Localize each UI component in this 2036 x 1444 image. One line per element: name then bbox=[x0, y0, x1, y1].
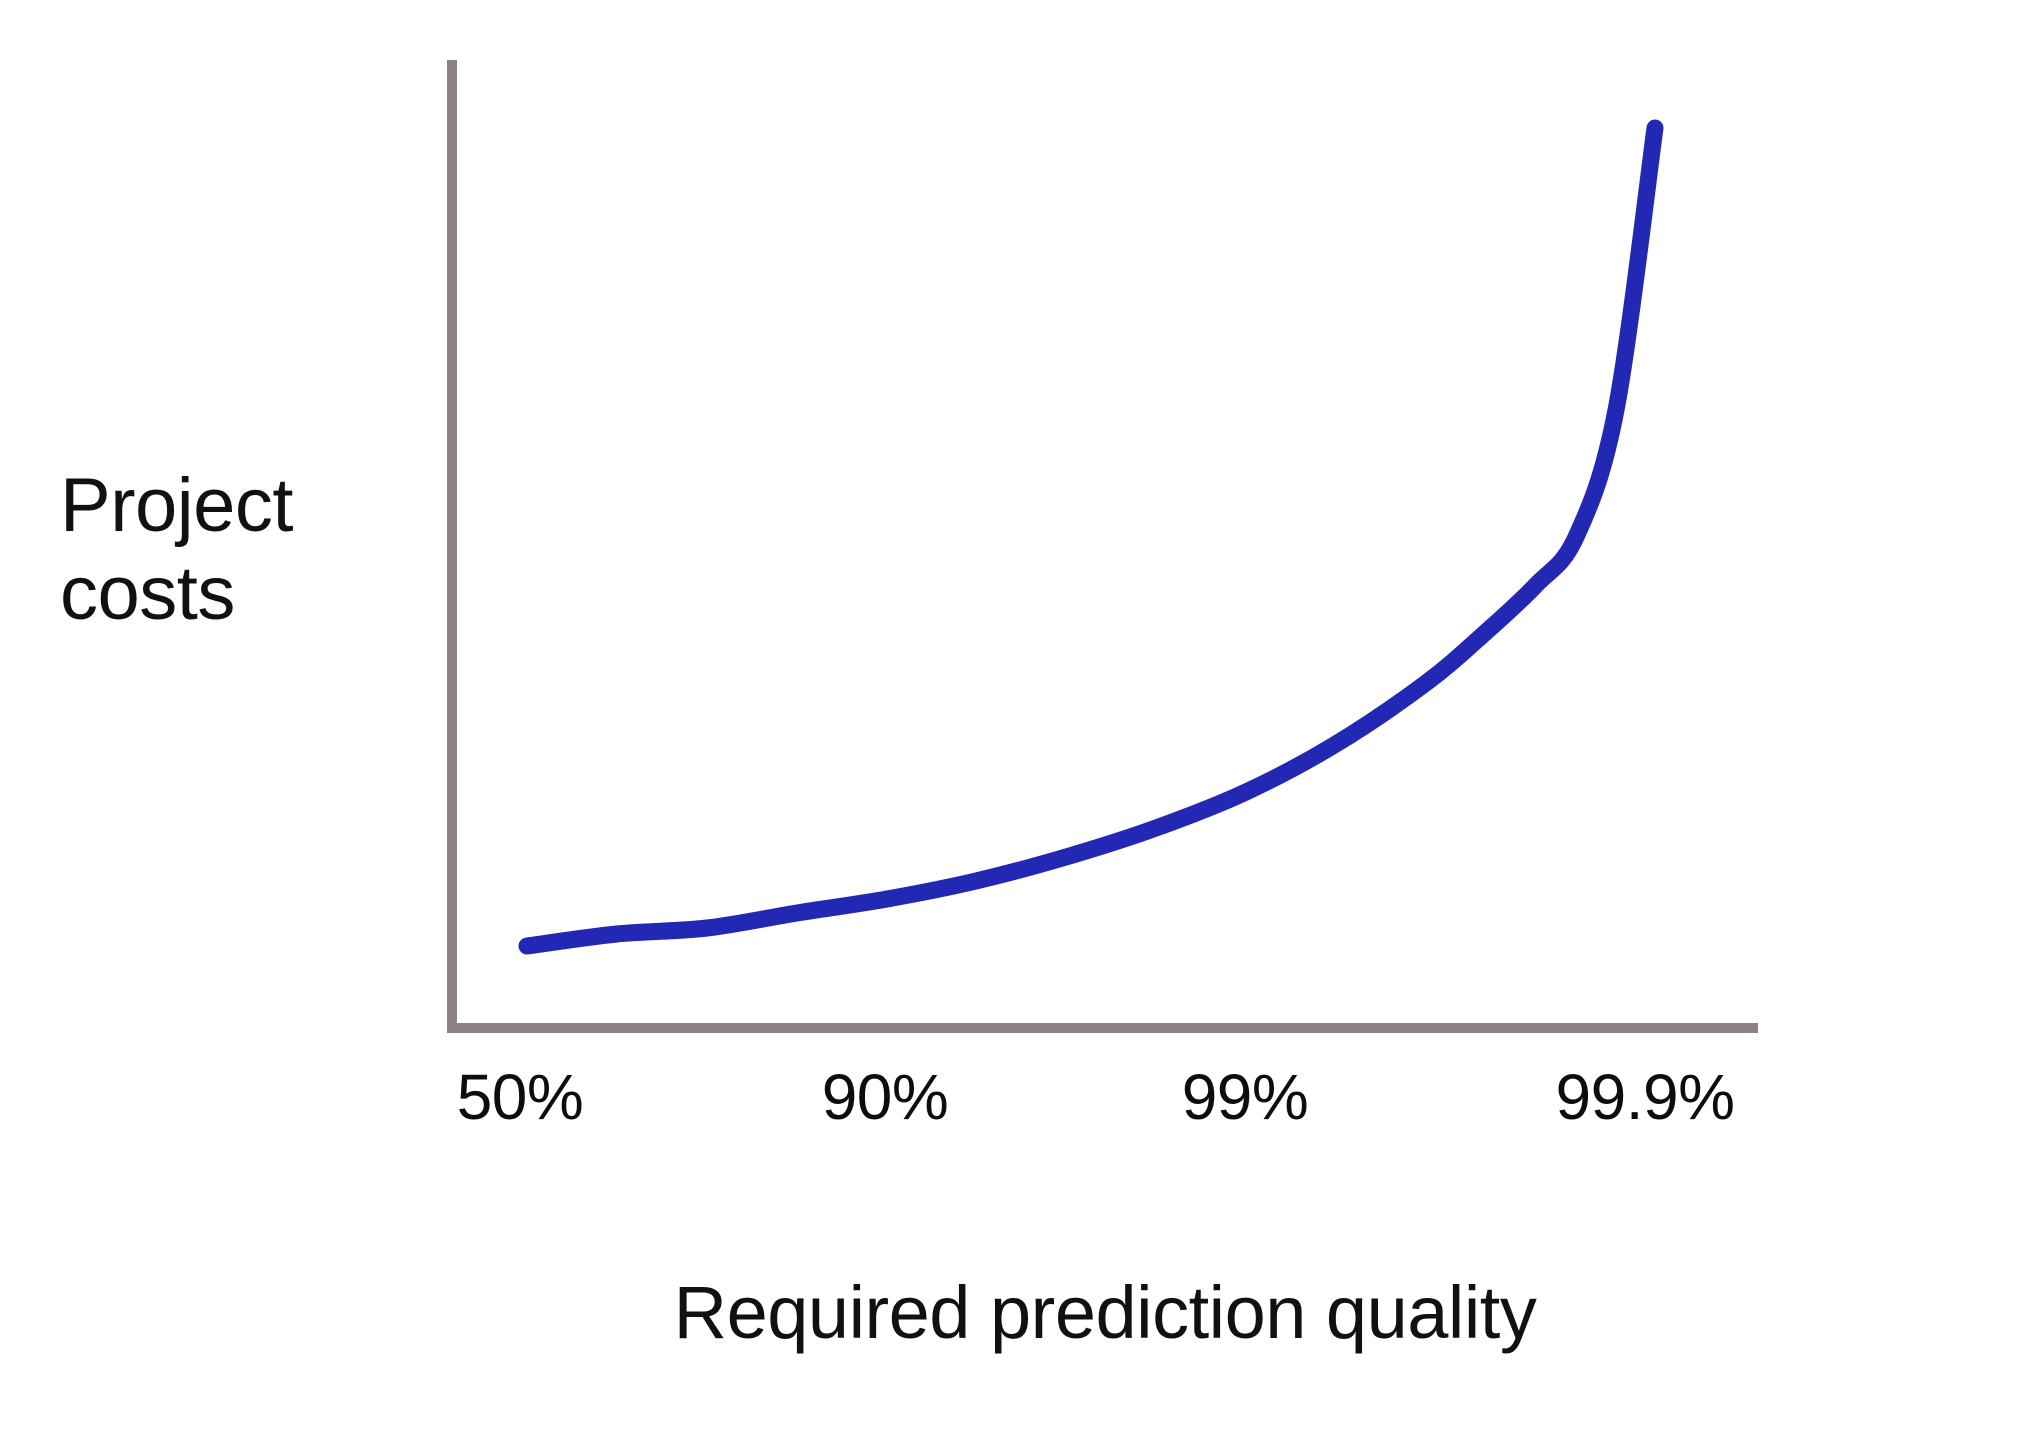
chart-plot-area bbox=[0, 0, 2036, 1444]
y-axis-title: Project costs bbox=[60, 462, 400, 638]
cost-curve-line bbox=[527, 128, 1655, 946]
x-tick-label-90: 90% bbox=[745, 1062, 1025, 1132]
x-tick-label-50: 50% bbox=[380, 1062, 660, 1132]
x-tick-label-99-9: 99.9% bbox=[1505, 1062, 1785, 1132]
x-axis-title: Required prediction quality bbox=[452, 1272, 1758, 1353]
chart-canvas: Project costs 50% 90% 99% 99.9% Required… bbox=[0, 0, 2036, 1444]
x-tick-label-99: 99% bbox=[1105, 1062, 1385, 1132]
